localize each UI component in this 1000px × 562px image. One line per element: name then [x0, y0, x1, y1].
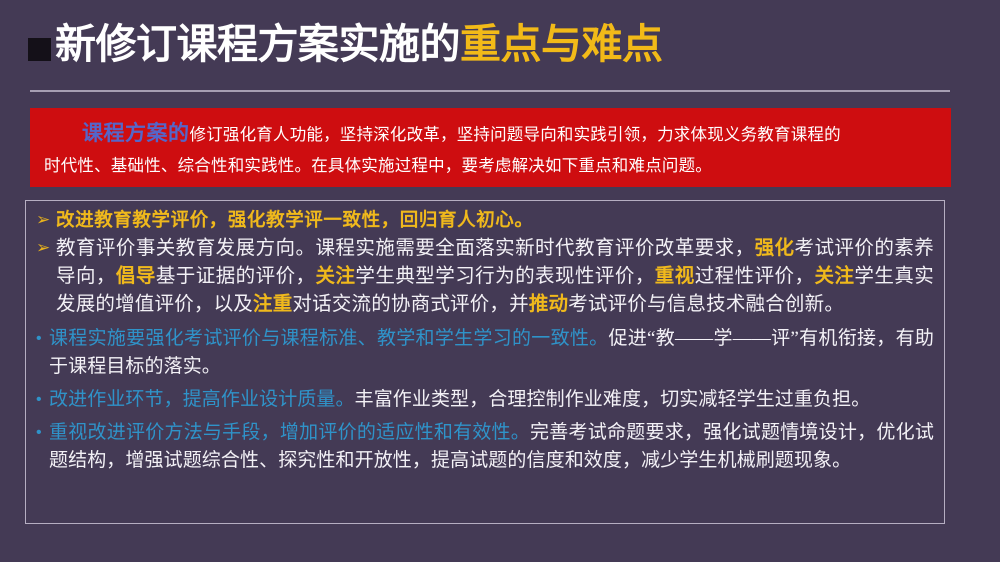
dot-bullet-icon: •: [34, 386, 49, 414]
title-divider: [30, 90, 950, 92]
highlight-term: 倡导: [116, 266, 156, 287]
square-bullet-icon: [28, 38, 51, 61]
page-title-main: 新修订课程方案实施的: [55, 24, 460, 65]
highlight-term: 重视: [655, 266, 695, 287]
highlight-term: 强化: [755, 238, 795, 259]
list-item: • 重视改进评价方法与手段，增加评价的适应性和有效性。完善考试命题要求，强化试题…: [34, 419, 934, 475]
list-item-lead: 改进作业环节，提高作业设计质量。: [49, 389, 355, 410]
dot-bullet-icon: •: [34, 419, 49, 447]
content-paragraph-row: ➢ 教育评价事关教育发展方向。课程实施需要全面落实新时代教育评价改革要求，强化考…: [34, 235, 934, 319]
list-item-rest: 丰富作业类型，合理控制作业难度，切实减轻学生过重负担。: [355, 389, 871, 410]
red-banner-lead: 课程方案的: [82, 122, 190, 145]
highlight-term: 注重: [253, 294, 292, 315]
list-item-text: 课程实施要强化考试评价与课程标准、教学和学生学习的一致性。促进“教——学——评”…: [49, 325, 934, 381]
red-banner-line-1: 课程方案的修订强化育人功能，坚持深化改革，坚持问题导向和实践引领，力求体现义务教…: [44, 118, 937, 151]
highlight-term: 关注: [315, 266, 355, 287]
paragraph-run: 对话交流的协商式评价，并: [292, 294, 528, 315]
arrow-bullet-icon: ➢: [34, 235, 56, 261]
slide-root: 新修订课程方案实施的 重点与难点 课程方案的修订强化育人功能，坚持深化改革，坚持…: [0, 0, 1000, 562]
list-item-lead: 课程实施要强化考试评价与课程标准、教学和学生学习的一致性。: [49, 328, 608, 349]
paragraph-run: 考试评价与信息技术融合创新。: [568, 294, 844, 315]
red-summary-banner: 课程方案的修订强化育人功能，坚持深化改革，坚持问题导向和实践引领，力求体现义务教…: [30, 108, 951, 187]
list-item: • 改进作业环节，提高作业设计质量。丰富作业类型，合理控制作业难度，切实减轻学生…: [34, 386, 934, 414]
content-paragraph-text: 教育评价事关教育发展方向。课程实施需要全面落实新时代教育评价改革要求，强化考试评…: [56, 235, 934, 319]
list-item-text: 重视改进评价方法与手段，增加评价的适应性和有效性。完善考试命题要求，强化试题情境…: [49, 419, 934, 475]
paragraph-run: 学生典型学习行为的表现性评价，: [355, 266, 654, 287]
paragraph-run: 过程性评价，: [695, 266, 815, 287]
content-box: ➢ 改进教育教学评价，强化教学评一致性，回归育人初心。 ➢ 教育评价事关教育发展…: [25, 200, 945, 524]
content-heading-text: 改进教育教学评价，强化教学评一致性，回归育人初心。: [56, 207, 534, 233]
highlight-term: 关注: [814, 266, 854, 287]
content-heading-row: ➢ 改进教育教学评价，强化教学评一致性，回归育人初心。: [34, 207, 934, 233]
red-banner-line-2: 时代性、基础性、综合性和实践性。在具体实施过程中，要考虑解决如下重点和难点问题。: [44, 151, 937, 182]
list-item-lead: 重视改进评价方法与手段，增加评价的适应性和有效性。: [49, 422, 530, 443]
paragraph-run: 教育评价事关教育发展方向。课程实施需要全面落实新时代教育评价改革要求，: [56, 238, 755, 259]
list-item-text: 改进作业环节，提高作业设计质量。丰富作业类型，合理控制作业难度，切实减轻学生过重…: [49, 386, 934, 414]
highlight-term: 推动: [529, 294, 568, 315]
page-title: 新修订课程方案实施的 重点与难点: [28, 24, 663, 65]
arrow-bullet-icon: ➢: [34, 207, 56, 233]
paragraph-run: 基于证据的评价，: [156, 266, 316, 287]
dot-bullet-icon: •: [34, 325, 49, 353]
red-banner-line-1-rest: 修订强化育人功能，坚持深化改革，坚持问题导向和实践引领，力求体现义务教育课程的: [190, 126, 841, 144]
list-item: • 课程实施要强化考试评价与课程标准、教学和学生学习的一致性。促进“教——学——…: [34, 325, 934, 381]
page-title-accent: 重点与难点: [460, 24, 663, 65]
